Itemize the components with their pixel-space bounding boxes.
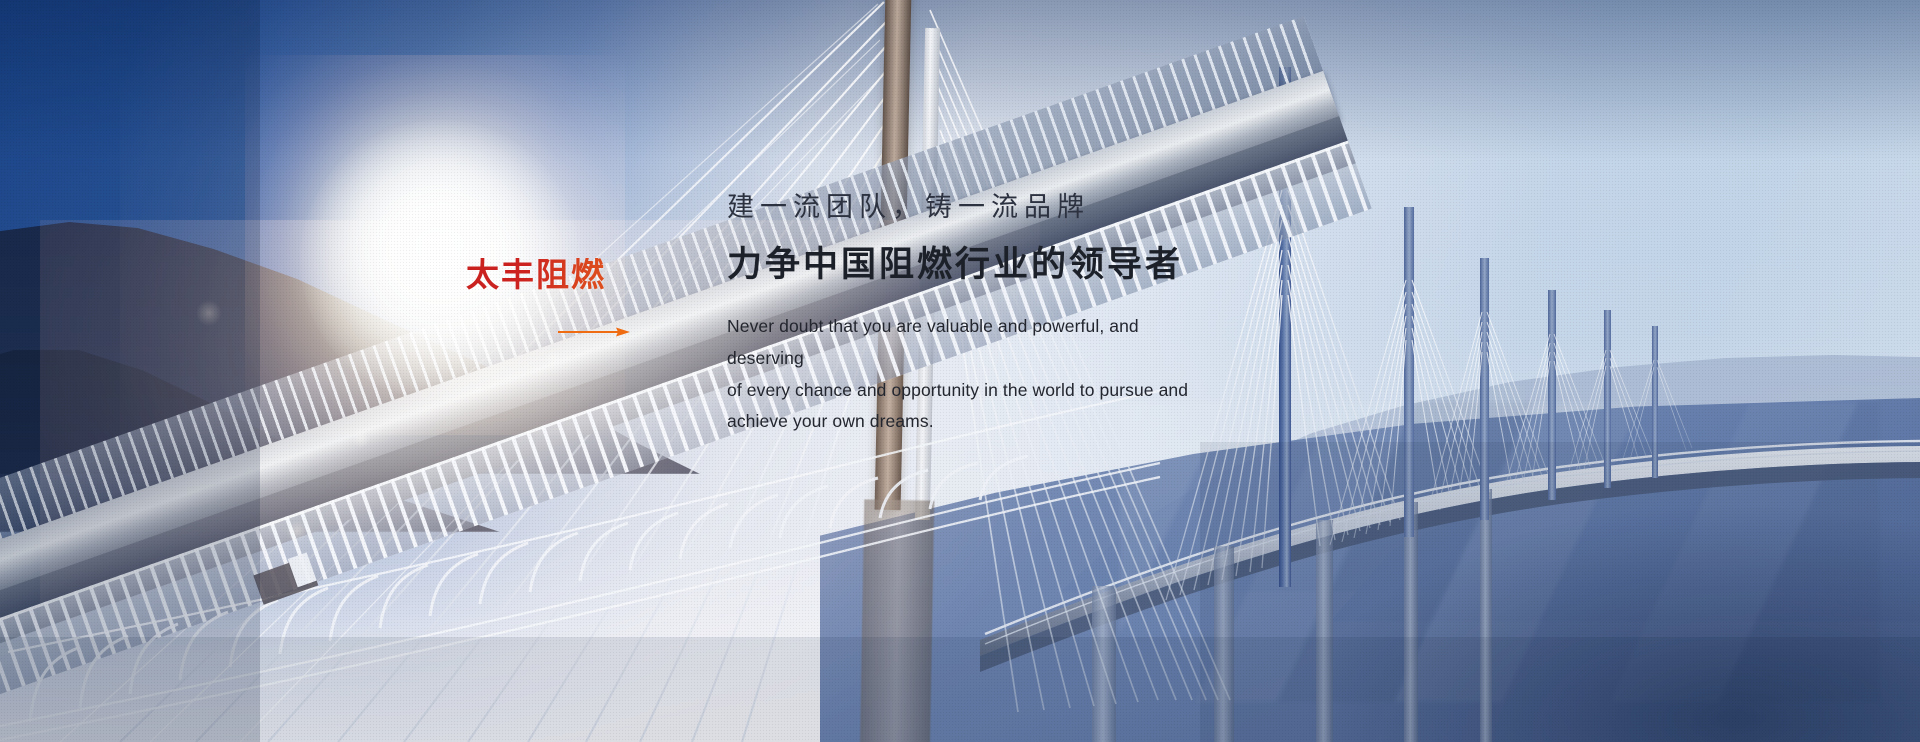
headline-block: 建一流团队，铸一流品牌 力争中国阻燃行业的领导者 Never doubt tha… [727, 193, 1327, 438]
right-arrow-icon [558, 326, 630, 338]
subtitle-paragraph: Never doubt that you are valuable and po… [727, 311, 1197, 438]
hero-banner: 太丰阻燃 建一流团队，铸一流品牌 力争中国阻燃行业的领导者 Never doub… [0, 0, 1920, 742]
subtitle-line-2: of every chance and opportunity in the w… [727, 375, 1197, 407]
banner-content: 太丰阻燃 建一流团队，铸一流品牌 力争中国阻燃行业的领导者 Never doub… [0, 0, 1920, 742]
brand-logo-text: 太丰阻燃 [466, 258, 616, 291]
subtitle-line-3: achieve your own dreams. [727, 406, 1197, 438]
page-title: 力争中国阻燃行业的领导者 [727, 245, 1327, 285]
subtitle-line-1: Never doubt that you are valuable and po… [727, 311, 1197, 375]
kicker-text: 建一流团队，铸一流品牌 [727, 193, 1327, 223]
brand-logo[interactable]: 太丰阻燃 [466, 258, 616, 291]
